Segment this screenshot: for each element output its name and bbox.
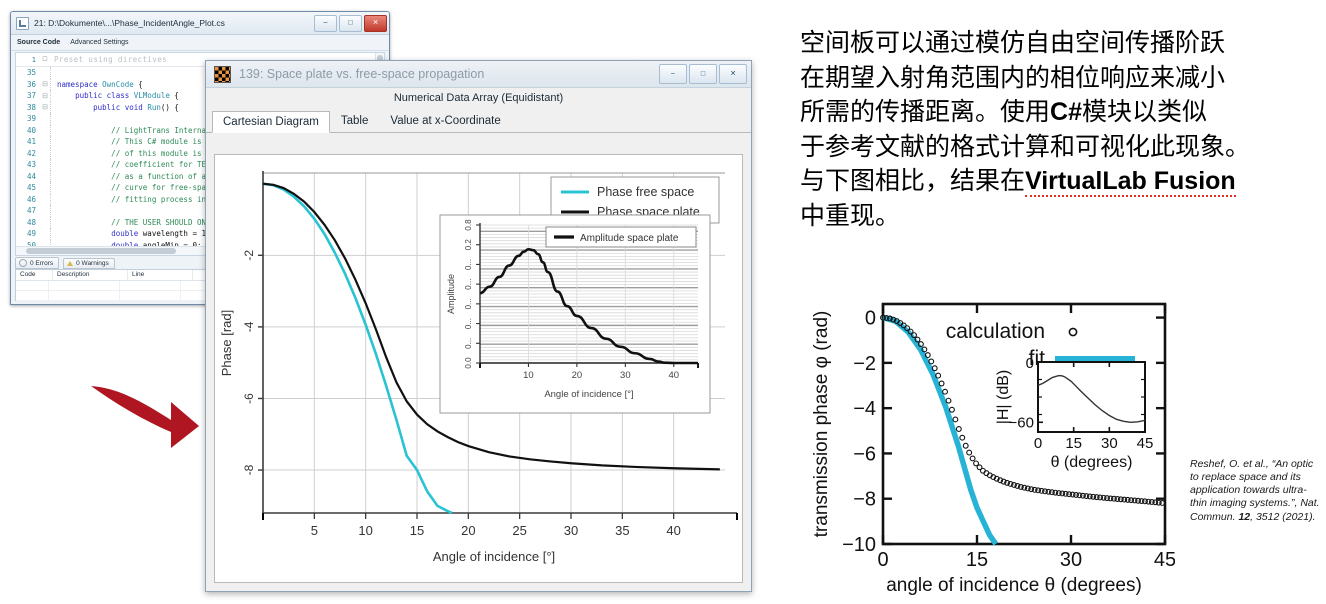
line-number: 46 xyxy=(16,195,40,204)
description-text: 空间板可以通过模仿自由空间传播阶跃 在期望入射角范围内的相位响应来减小 所需的传… xyxy=(800,26,1320,233)
minimize-button[interactable]: – xyxy=(659,64,687,84)
inset-x-tick-label: 20 xyxy=(572,370,583,381)
code-window-title: 21: D:\Dokumente\...\Phase_IncidentAngle… xyxy=(34,18,314,28)
code-window-controls[interactable]: – □ ✕ xyxy=(314,15,387,32)
menu-item-source-code[interactable]: Source Code xyxy=(17,39,60,46)
minimize-icon: – xyxy=(324,20,328,27)
inset-y-tick-label: 0... xyxy=(464,338,473,349)
ref-inset-x-tick-label: 45 xyxy=(1137,435,1154,452)
ref-y-tick-label: −8 xyxy=(853,489,876,511)
ref-inset-x-axis-title: θ (degrees) xyxy=(1051,454,1133,471)
fold-icon[interactable]: ⊟ xyxy=(40,80,50,88)
maximize-icon: □ xyxy=(348,20,352,27)
plot-window-titlebar[interactable]: 139: Space plate vs. free-space propagat… xyxy=(206,61,751,88)
y-axis-title: Phase [rad] xyxy=(219,310,234,377)
close-button[interactable]: ✕ xyxy=(364,15,387,32)
line-number: 45 xyxy=(16,183,40,192)
tab-table[interactable]: Table xyxy=(330,110,380,132)
y-axis-tick-label: -6 xyxy=(242,393,256,404)
code-text: namespace OwnCode { xyxy=(53,80,143,89)
line-number: 39 xyxy=(16,114,40,123)
ref-inset-x-tick-label: 15 xyxy=(1065,435,1082,452)
plot-tabs[interactable]: Cartesian Diagram Table Value at x-Coord… xyxy=(206,108,751,133)
x-axis-tick-label: 10 xyxy=(358,523,372,538)
line-number: 44 xyxy=(16,172,40,181)
indent-guide xyxy=(50,205,53,217)
column-header-description: Description xyxy=(53,270,128,280)
menu-item-advanced-settings[interactable]: Advanced Settings xyxy=(70,39,128,46)
code-menubar[interactable]: Source Code Advanced Settings xyxy=(11,35,389,51)
maximize-button[interactable]: □ xyxy=(339,15,362,32)
ref-y-tick-label: −2 xyxy=(853,353,876,375)
line-number: 36 xyxy=(16,80,40,89)
line-number: 40 xyxy=(16,126,40,135)
preset-placeholder-text: Preset using directives xyxy=(50,55,167,64)
citation-line: Reshef, O. et al., “An xyxy=(1190,458,1288,470)
code-text: // LightTrans Internat xyxy=(53,126,211,135)
plot-window-controls[interactable]: – □ ✕ xyxy=(659,64,747,84)
fold-icon[interactable]: ⊟ xyxy=(40,92,50,100)
warnings-tab-label: 0 Warnings xyxy=(76,260,109,267)
warnings-tab[interactable]: 0 Warnings xyxy=(63,258,115,269)
fold-icon[interactable]: ☐ xyxy=(40,56,50,63)
x-axis-tick-label: 5 xyxy=(311,523,318,538)
line-number: 48 xyxy=(16,218,40,227)
plot-window-icon xyxy=(214,66,231,83)
maximize-icon: □ xyxy=(701,71,705,78)
ref-inset-y-tick-label: 0 xyxy=(1026,355,1034,372)
code-text: double wavelength = 15 xyxy=(53,229,211,238)
line-number: 41 xyxy=(16,137,40,146)
code-text: // THE USER SHOULD ONL xyxy=(53,218,211,227)
x-axis-tick-label: 35 xyxy=(615,523,629,538)
errors-tab[interactable]: 0 Errors xyxy=(15,257,59,269)
legend-label: Phase free space xyxy=(597,185,694,199)
ref-x-tick-label: 45 xyxy=(1154,549,1175,571)
citation-line: 3512 (2021). xyxy=(1256,511,1316,523)
indent-guide xyxy=(50,113,53,125)
warning-icon xyxy=(67,261,73,266)
line-number: 43 xyxy=(16,160,40,169)
preset-line-number: 1 xyxy=(16,56,40,64)
x-axis-tick-label: 25 xyxy=(512,523,526,538)
cartesian-diagram-canvas[interactable]: -2-4-6-8510152025303540Phase [rad]Angle … xyxy=(214,154,743,583)
y-axis-tick-label: -2 xyxy=(242,250,256,261)
inset-y-tick-label: 0... xyxy=(464,318,473,329)
close-icon: ✕ xyxy=(730,71,736,78)
inset-y-tick-label: 0... xyxy=(464,298,473,309)
inset-x-tick-label: 10 xyxy=(523,370,534,381)
plot-subtitle: Numerical Data Array (Equidistant) xyxy=(206,88,751,108)
ref-x-tick-label: 30 xyxy=(1060,549,1082,571)
ref-y-axis-title: transmission phase φ (rad) xyxy=(811,311,832,538)
line-number: 35 xyxy=(16,68,40,77)
red-arrow-icon xyxy=(85,372,205,462)
close-icon: ✕ xyxy=(373,20,379,27)
line-number: 47 xyxy=(16,206,40,215)
inset-y-tick-label: 0... xyxy=(464,259,473,270)
citation-volume: 12 xyxy=(1238,511,1250,523)
main-phase-chart[interactable]: -2-4-6-8510152025303540Phase [rad]Angle … xyxy=(215,155,742,583)
code-text: public void Run() { xyxy=(53,103,179,112)
code-text: // as a function of an xyxy=(53,172,211,181)
ref-x-tick-label: 15 xyxy=(966,549,988,571)
line-number: 38 xyxy=(16,103,40,112)
x-axis-tick-label: 15 xyxy=(410,523,424,538)
code-text: public class VLModule { xyxy=(53,91,179,100)
inset-y-tick-label: 0.8 xyxy=(464,219,473,231)
line-number: 37 xyxy=(16,91,40,100)
inset-y-axis-title: Amplitude xyxy=(446,274,456,314)
x-axis-tick-label: 30 xyxy=(564,523,578,538)
close-button[interactable]: ✕ xyxy=(719,64,747,84)
ref-inset-y-tick-label: −60 xyxy=(1009,414,1034,431)
error-icon xyxy=(19,259,27,267)
reference-phase-chart: 0−2−4−6−8−100153045transmission phase φ … xyxy=(805,292,1175,597)
series-phase-free-space xyxy=(263,184,452,513)
code-text: // curve for free-spac xyxy=(53,183,211,192)
description-line: 中重现。 xyxy=(800,199,1320,234)
y-axis-tick-label: -8 xyxy=(242,464,256,475)
fold-icon[interactable]: ⊟ xyxy=(40,103,50,111)
ref-inset-x-tick-label: 0 xyxy=(1034,435,1042,452)
y-axis-tick-label: -4 xyxy=(242,321,256,332)
code-window-icon xyxy=(16,17,29,30)
x-axis-tick-label: 40 xyxy=(666,523,680,538)
x-axis-tick-label: 20 xyxy=(461,523,475,538)
line-number: 49 xyxy=(16,229,40,238)
tab-value-at-x-coordinate[interactable]: Value at x-Coordinate xyxy=(379,110,511,132)
inset-y-tick-label: 0.0 xyxy=(464,357,473,369)
ref-x-axis-title: angle of incidence θ (degrees) xyxy=(886,575,1142,596)
code-text: // fitting process in xyxy=(53,195,206,204)
ref-y-tick-label: −6 xyxy=(853,443,876,465)
minimize-icon: – xyxy=(671,71,675,78)
inset-x-axis-title: Angle of incidence [°] xyxy=(544,389,633,400)
citation-text: Reshef, O. et al., “An optic to replace … xyxy=(1190,458,1320,524)
description-line: 所需的传播距离。使用C#模块以类似 xyxy=(800,95,1320,130)
code-text: // coefficient for TE xyxy=(53,160,206,169)
ref-y-tick-label: 0 xyxy=(865,308,876,330)
code-text: // This C# module is a xyxy=(53,137,211,146)
inset-x-tick-label: 30 xyxy=(620,370,631,381)
indent-guide xyxy=(50,67,53,79)
tab-cartesian-diagram[interactable]: Cartesian Diagram xyxy=(212,111,330,133)
ref-legend-label-calculation: calculation xyxy=(946,320,1045,343)
plot-window[interactable]: 139: Space plate vs. free-space propagat… xyxy=(205,60,752,592)
code-window-titlebar[interactable]: 21: D:\Dokumente\...\Phase_IncidentAngle… xyxy=(11,12,389,35)
code-text: // of this module is t xyxy=(53,149,211,158)
scrollbar-thumb[interactable] xyxy=(26,248,176,254)
ref-inset-y-axis-title: |H| (dB) xyxy=(995,370,1012,425)
x-axis-title: Angle of incidence [°] xyxy=(433,549,555,564)
line-number: 42 xyxy=(16,149,40,158)
maximize-button[interactable]: □ xyxy=(689,64,717,84)
column-header-code: Code xyxy=(16,270,53,280)
legend-label: Amplitude space plate xyxy=(580,233,679,244)
citation-line: imaging systems.”, xyxy=(1210,497,1298,509)
ref-y-tick-label: −4 xyxy=(853,398,876,420)
description-line: 于参考文献的格式计算和可视化此现象。 xyxy=(800,130,1320,165)
ref-x-tick-label: 0 xyxy=(877,549,888,571)
ref-inset-x-tick-label: 30 xyxy=(1101,435,1118,452)
description-line: 在期望入射角范围内的相位响应来减小 xyxy=(800,61,1320,96)
description-line: 空间板可以通过模仿自由空间传播阶跃 xyxy=(800,26,1320,61)
inset-x-tick-label: 40 xyxy=(668,370,679,381)
column-header-line: Line xyxy=(128,270,193,280)
plot-window-title: 139: Space plate vs. free-space propagat… xyxy=(239,67,659,81)
ref-y-tick-label: −10 xyxy=(842,534,876,556)
inset-y-tick-label: 0... xyxy=(464,279,473,290)
errors-tab-label: 0 Errors xyxy=(30,260,53,267)
description-line: 与下图相比，结果在VirtualLab Fusion xyxy=(800,164,1320,199)
inset-y-tick-label: 0.2 xyxy=(464,239,473,251)
minimize-button[interactable]: – xyxy=(314,15,337,32)
